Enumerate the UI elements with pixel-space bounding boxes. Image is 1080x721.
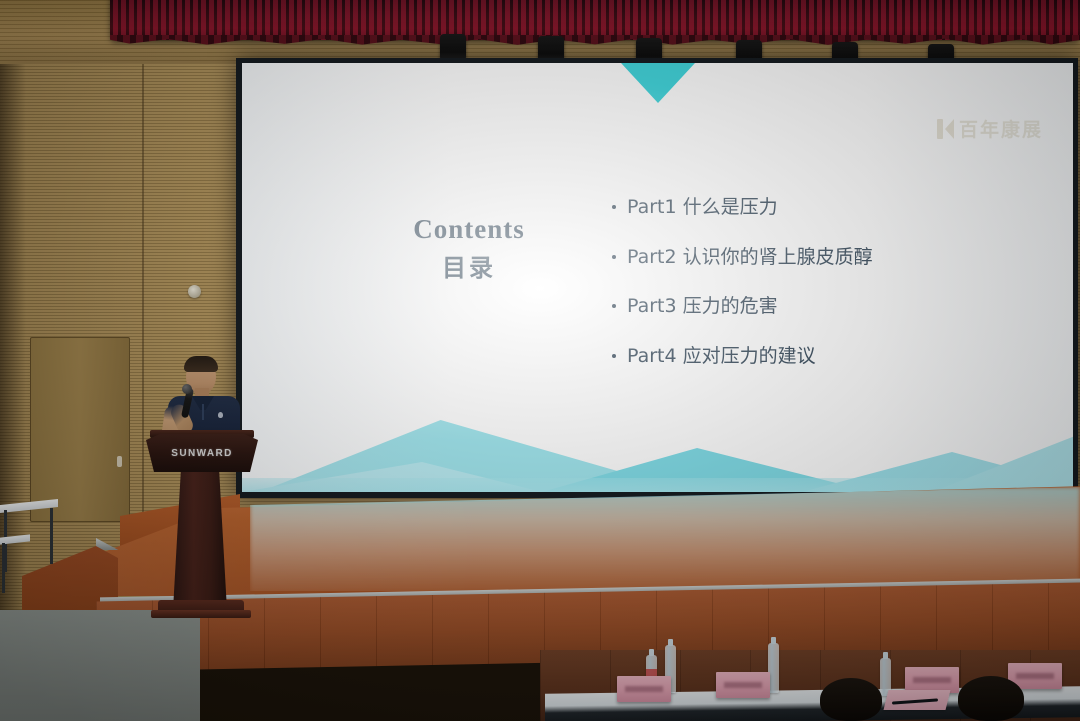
toc-item-3-text: Part3 压力的危害 <box>627 294 778 319</box>
presenter <box>162 356 246 440</box>
table-leg <box>2 543 5 593</box>
toc-item-4: Part4 应对压力的建议 <box>612 344 1042 369</box>
podium-column <box>173 468 227 610</box>
podium-brand-label: SUNWARD <box>146 448 258 459</box>
table-of-contents-list: Part1 什么是压力 Part2 认识你的肾上腺皮质醇 <box>612 195 1042 394</box>
bullet-icon <box>612 304 616 308</box>
bullet-icon <box>612 205 616 209</box>
audience-head <box>958 676 1024 721</box>
wall-seam <box>142 0 144 520</box>
toc-item-2-part: Part2 <box>627 246 677 268</box>
conference-hall-scene: 百年康展 Contents 目录 Part1 什么是压力 <box>0 0 1080 721</box>
microphone-head-icon <box>182 384 192 394</box>
hall-floor <box>0 610 200 721</box>
table-leg <box>50 508 53 564</box>
toc-item-2-text: Part2 认识你的肾上腺皮质醇 <box>627 245 873 270</box>
toc-item-4-part: Part4 <box>627 345 677 367</box>
stage-curtain <box>110 0 1080 40</box>
toc-item-3-part: Part3 <box>627 295 677 317</box>
podium-foot <box>151 610 251 618</box>
mountain-decoration <box>242 374 1073 492</box>
toc-item-3: Part3 压力的危害 <box>612 294 1042 319</box>
toc-item-4-label: 应对压力的建议 <box>683 345 816 367</box>
toc-item-4-text: Part4 应对压力的建议 <box>627 344 816 369</box>
name-card <box>617 676 671 702</box>
bullet-icon <box>612 255 616 259</box>
presenter-placket <box>202 404 204 420</box>
toc-item-1-text: Part1 什么是压力 <box>627 195 778 220</box>
toc-item-2-label: 认识你的肾上腺皮质醇 <box>683 246 873 268</box>
toc-item-3-label: 压力的危害 <box>683 295 778 317</box>
audience-head <box>820 678 882 721</box>
slide-title-block: Contents 目录 <box>364 215 574 283</box>
slide-title-zh: 目录 <box>364 248 574 283</box>
wall-speaker-icon <box>188 285 201 298</box>
shirt-logo-icon <box>218 412 223 418</box>
toc-item-1-part: Part1 <box>627 196 677 218</box>
side-door[interactable] <box>30 337 130 522</box>
door-handle-icon[interactable] <box>117 456 122 467</box>
toc-item-1-label: 什么是压力 <box>683 196 778 218</box>
toc-item-1: Part1 什么是压力 <box>612 195 1042 220</box>
name-card <box>716 672 770 698</box>
projection-screen: 百年康展 Contents 目录 Part1 什么是压力 <box>242 63 1073 492</box>
bullet-icon <box>612 354 616 358</box>
projection-screen-frame: 百年康展 Contents 目录 Part1 什么是压力 <box>236 58 1078 498</box>
presenter-hair <box>184 356 218 372</box>
slide-title-en: Contents <box>364 215 574 245</box>
toc-item-2: Part2 认识你的肾上腺皮质醇 <box>612 245 1042 270</box>
